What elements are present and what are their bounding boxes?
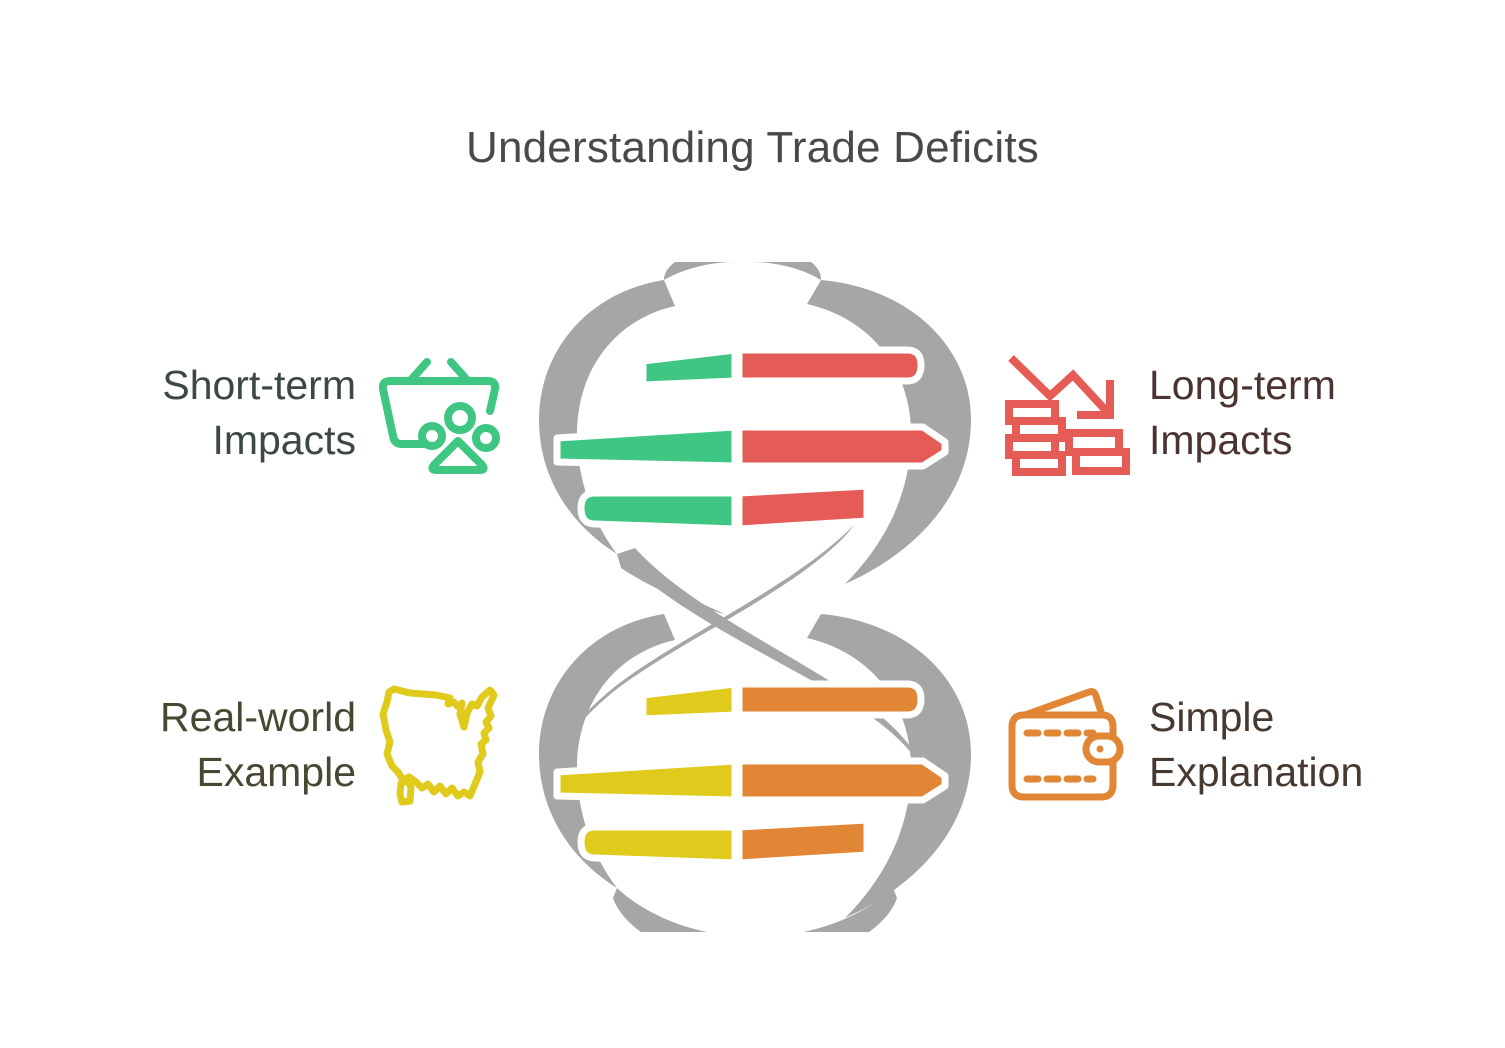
quadrant-label-long-term: Long-term Impacts xyxy=(1149,358,1336,468)
helix-rung xyxy=(557,427,945,466)
helix-rung xyxy=(581,820,867,863)
helix-rung xyxy=(643,684,921,719)
shopping-basket-icon xyxy=(378,352,500,474)
helix-rungs-upper xyxy=(557,350,945,529)
helix-rungs-lower xyxy=(557,684,945,863)
helix-rung xyxy=(581,486,867,529)
page-title: Understanding Trade Deficits xyxy=(0,122,1505,175)
dna-double-helix xyxy=(525,262,985,932)
helix-tails-top xyxy=(664,262,821,280)
quadrant-real-world[interactable]: Real-world Example xyxy=(60,684,500,806)
wallet-icon xyxy=(1005,684,1127,806)
infographic-canvas: Understanding Trade Deficits Short-term … xyxy=(0,0,1505,1048)
helix-rung xyxy=(643,350,921,385)
quadrant-label-real-world: Real-world Example xyxy=(160,690,356,800)
helix-rung xyxy=(557,761,945,800)
quadrant-long-term[interactable]: Long-term Impacts xyxy=(1005,352,1465,474)
quadrant-label-short-term: Short-term Impacts xyxy=(162,358,356,468)
quadrant-simple-explanation[interactable]: Simple Explanation xyxy=(1005,684,1465,806)
quadrant-label-simple-explanation: Simple Explanation xyxy=(1149,690,1363,800)
declining-chart-coins-icon xyxy=(1005,352,1127,474)
usa-map-icon xyxy=(378,684,500,806)
quadrant-short-term[interactable]: Short-term Impacts xyxy=(60,352,500,474)
